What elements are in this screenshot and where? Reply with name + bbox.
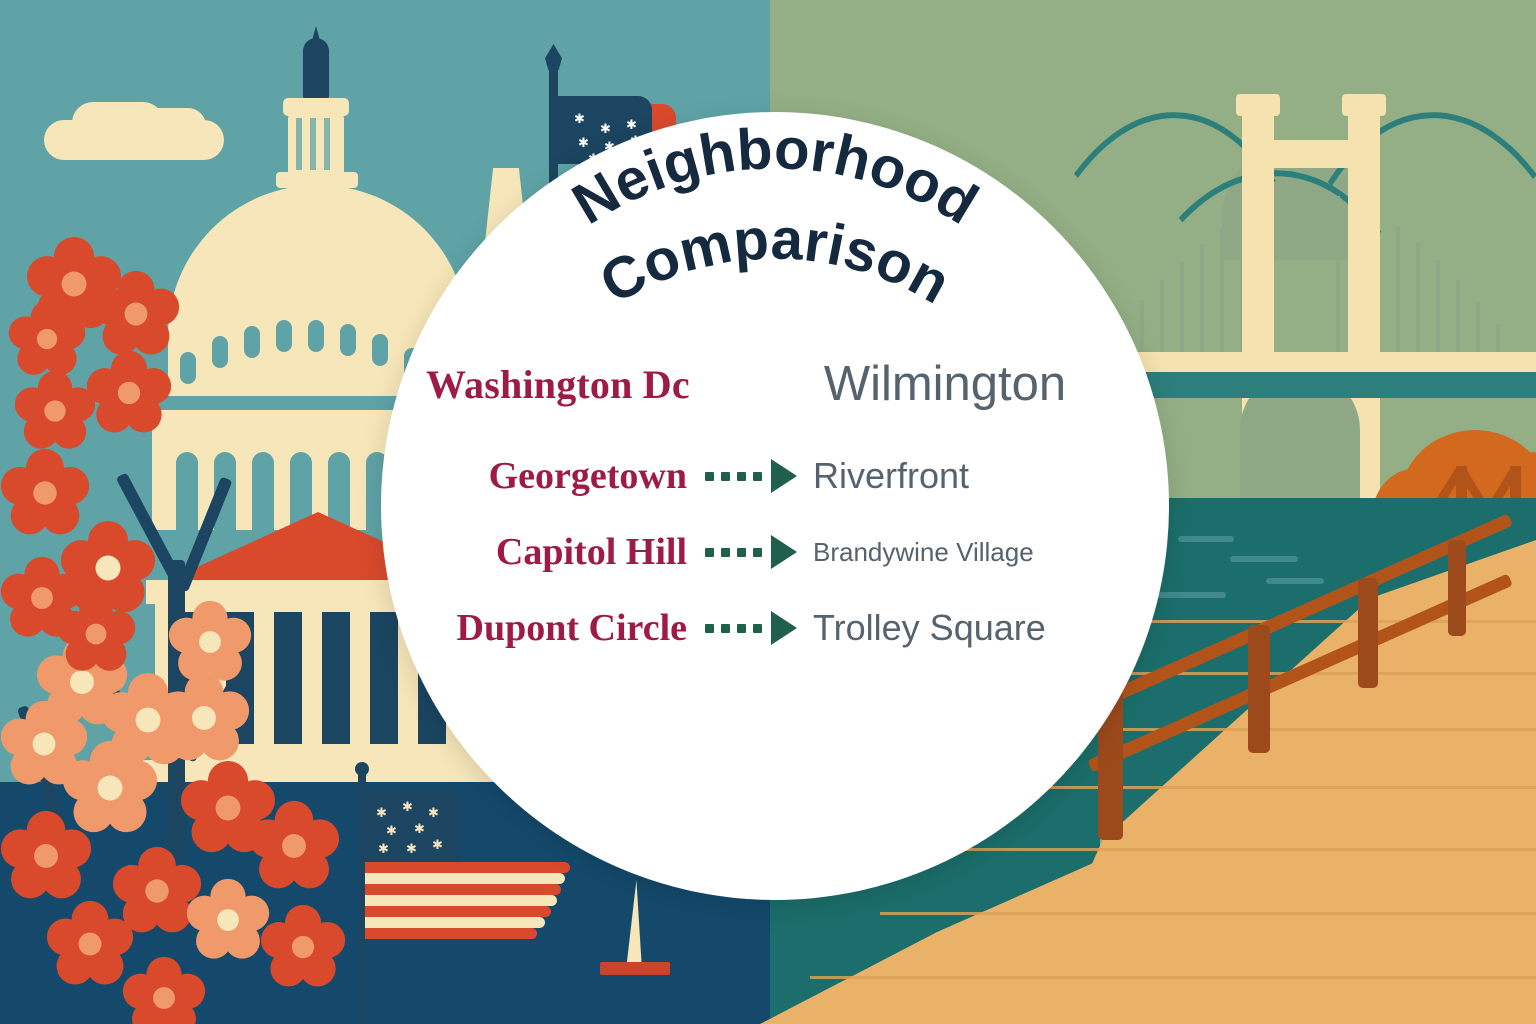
arrow-head-icon [771,459,797,493]
boardwalk-plank [810,976,1536,979]
dome-window [276,320,292,352]
dotted-arrow-right-icon [703,611,799,645]
flag-stripe [365,917,545,928]
blossom-icon [186,878,270,967]
arrow-head-icon [771,611,797,645]
star-icon: ✱ [378,842,389,855]
wilmington-neighborhood-label: Brandywine Village [799,537,1153,568]
left-city-label: Washington Dc [381,361,708,408]
boardwalk-plank [950,848,1536,851]
dome-window [340,324,356,356]
bridge-hanger [1416,242,1420,360]
cupola-column [296,118,302,170]
comparison-header-row: Washington Dc Wilmington [381,356,1169,412]
sailboat-hull [600,962,670,975]
bridge-hanger [1396,226,1400,360]
bridge-tower-crossbeam [1242,140,1380,168]
bridge-tower-cap [1236,94,1280,116]
dash-icon [753,472,762,481]
capitol-column [274,612,302,744]
flag-stripe [365,895,557,906]
dc-neighborhood-label: Georgetown [397,454,703,498]
comparison-row: Dupont Circle Trolley Square [381,606,1169,650]
dc-neighborhood-label: Dupont Circle [397,606,703,650]
flag-stripe [365,928,537,939]
blossom-icon [122,956,206,1024]
flag-stripe [365,873,565,884]
blossom-icon [14,370,96,457]
bridge-tower-cap [1342,94,1386,116]
bridge-hanger [1336,196,1340,360]
dash-icon [737,472,746,481]
arrow-head-icon [771,535,797,569]
star-icon: ✱ [414,822,425,835]
dome-window [308,320,324,352]
star-icon: ✱ [406,842,417,855]
wilmington-neighborhood-label: Riverfront [799,455,1153,497]
drum-arch [252,452,274,530]
dash-icon [705,548,714,557]
infographic-canvas: ✱ ✱ ✱ ✱ ✱ ✱ ✱ ✱ ✱ ✱ [0,0,1536,1024]
dome-window [180,352,196,384]
comparison-row: Georgetown Riverfront [381,454,1169,498]
boardwalk-rail-post [1358,578,1378,688]
dome-window [244,326,260,358]
comparison-row: Capitol Hill Brandywine Village [381,530,1169,574]
flag-stripe [365,862,570,873]
boardwalk-plank [1110,620,1536,623]
wilmington-neighborhood-label: Trolley Square [799,607,1153,649]
star-icon: ✱ [386,824,397,837]
boardwalk-plank [1010,786,1536,789]
flag-stripe [365,906,551,917]
dash-icon [721,624,730,633]
dash-icon [737,624,746,633]
bridge-hanger [1220,228,1224,360]
star-icon: ✱ [432,838,443,851]
dash-icon [753,624,762,633]
bridge-hanger [1436,260,1440,360]
blossom-icon [86,350,172,441]
drum-arch [176,452,198,530]
dotted-arrow-right-icon [703,535,799,569]
capitol-column [322,612,350,744]
water-ripple [1178,536,1234,542]
bridge-hanger [1180,262,1184,360]
dome-finial [303,38,329,100]
boardwalk-rail-post [1248,625,1270,753]
flagpole-knob [355,762,369,776]
dotted-arrow-right-icon [703,459,799,493]
cupola-column [310,118,316,170]
boardwalk-plank [880,912,1536,915]
dc-neighborhood-label: Capitol Hill [397,530,703,574]
flag-stripe [365,884,561,895]
water-ripple [1230,556,1298,562]
cupola-column [324,118,330,170]
comparison-rows: Washington Dc Wilmington Georgetown Rive… [381,356,1169,682]
dome-window [212,336,228,368]
star-icon: ✱ [428,806,439,819]
bridge-hanger [1456,280,1460,360]
dash-icon [705,624,714,633]
blossom-icon [260,904,346,995]
dash-icon [721,548,730,557]
right-city-label: Wilmington [804,356,1169,412]
blossom-icon [56,594,136,679]
blossom-icon [168,600,252,689]
title-line-2: Comparison [590,206,961,316]
dash-icon [705,472,714,481]
blossom-icon [46,900,134,993]
dash-icon [737,548,746,557]
comparison-card: Neighborhood Comparison Washington Dc Wi… [381,112,1169,900]
star-icon: ✱ [376,806,387,819]
boardwalk-rail-post [1448,540,1466,636]
star-icon: ✱ [402,800,413,813]
cloud-icon [132,108,206,144]
dash-icon [721,472,730,481]
water-ripple [1266,578,1324,584]
dash-icon [753,548,762,557]
blossom-icon [0,810,92,907]
bridge-hanger [1200,244,1204,360]
